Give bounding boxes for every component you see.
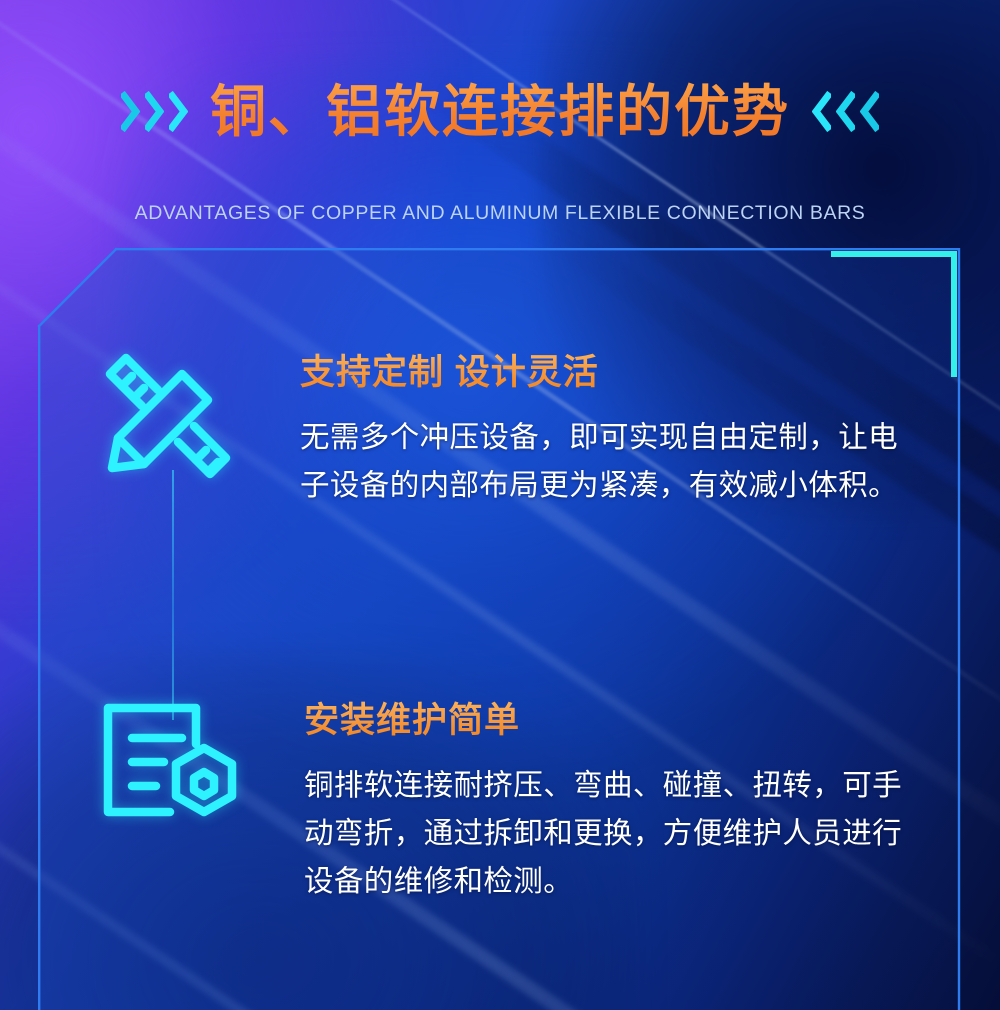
document-gear-maintenance-icon (100, 700, 240, 905)
advantage-item-1-body: 无需多个冲压设备，即可实现自由定制，让电子设备的内部布局更为紧凑，有效减小体积。 (300, 414, 920, 510)
advantage-item-1-text: 支持定制 设计灵活 无需多个冲压设备，即可实现自由定制，让电子设备的内部布局更为… (236, 352, 920, 510)
chevron-left-triple-icon (812, 91, 879, 132)
advantage-item-1: 支持定制 设计灵活 无需多个冲压设备，即可实现自由定制，让电子设备的内部布局更为… (96, 352, 920, 510)
pencil-ruler-design-icon (96, 352, 236, 510)
header: 铜、铝软连接排的优势 ADVANTAGES OF COPPER AND ALUM… (0, 44, 1000, 225)
chevron-right-triple-icon (121, 91, 188, 132)
advantage-item-2-title: 安装维护简单 (304, 700, 924, 742)
page-title: 铜、铝软连接排的优势 (210, 82, 790, 142)
advantage-item-1-title: 支持定制 设计灵活 (300, 352, 920, 394)
advantage-item-2: 安装维护简单 铜排软连接耐挤压、弯曲、碰撞、扭转，可手动弯折，通过拆卸和更换，方… (100, 700, 924, 905)
advantage-item-2-body: 铜排软连接耐挤压、弯曲、碰撞、扭转，可手动弯折，通过拆卸和更换，方便维护人员进行… (304, 762, 924, 905)
advantage-item-2-text: 安装维护简单 铜排软连接耐挤压、弯曲、碰撞、扭转，可手动弯折，通过拆卸和更换，方… (240, 700, 924, 905)
poster-canvas: 铜、铝软连接排的优势 ADVANTAGES OF COPPER AND ALUM… (0, 0, 1000, 1010)
page-subtitle: ADVANTAGES OF COPPER AND ALUMINUM FLEXIB… (0, 202, 1000, 225)
title-row: 铜、铝软连接排的优势 (0, 44, 1000, 180)
